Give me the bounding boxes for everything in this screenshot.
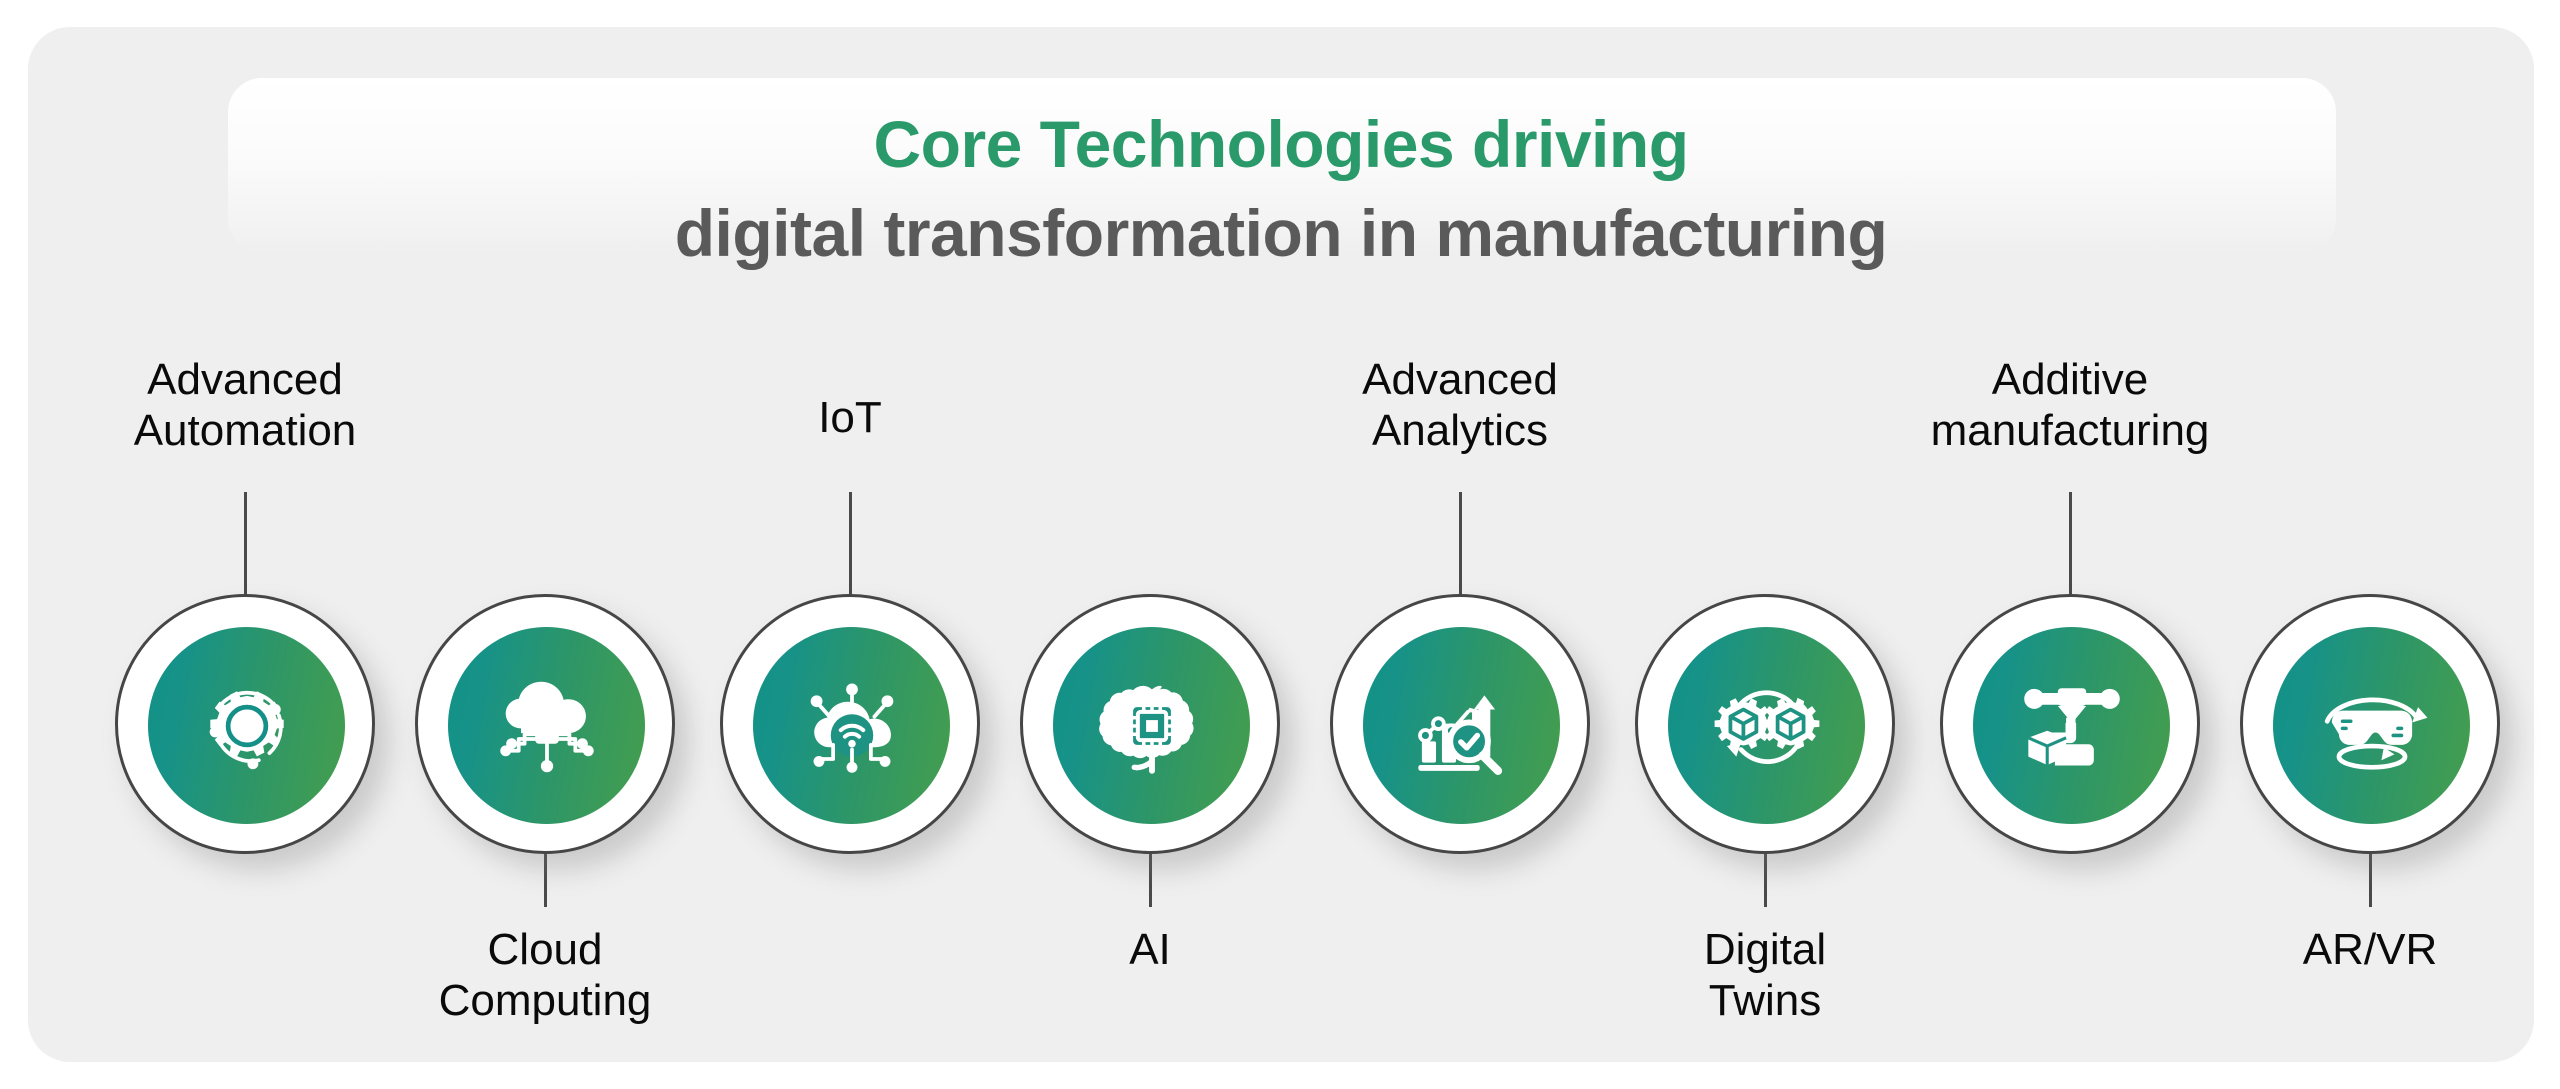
node-label-cloud-computing: Cloud Computing [285,925,805,1026]
node-circle-cloud-computing[interactable] [415,594,675,854]
twin-gears-sync-icon [1708,667,1826,785]
brain-chip-icon [1093,667,1211,785]
node-label-advanced-analytics: Advanced Analytics [1200,355,1720,456]
node-label-advanced-automation: Advanced Automation [0,355,505,456]
node-connector-cloud-computing [544,848,547,907]
node-connector-ai [1149,848,1152,907]
node-circle-additive-manufacturing[interactable] [1940,594,2200,854]
node-connector-ar-vr [2369,848,2372,907]
node-label-digital-twins: Digital Twins [1505,925,2025,1026]
gear-check-orbit-icon [188,667,306,785]
node-circle-advanced-automation[interactable] [115,594,375,854]
node-icon-disc-ar-vr [2273,627,2470,824]
node-connector-advanced-automation [244,492,247,600]
vr-goggles-orbit-icon [2313,667,2431,785]
node-circle-ai[interactable] [1020,594,1280,854]
node-circle-ar-vr[interactable] [2240,594,2500,854]
node-circle-digital-twins[interactable] [1635,594,1895,854]
node-connector-digital-twins [1764,848,1767,907]
node-circle-advanced-analytics[interactable] [1330,594,1590,854]
cloud-network-icon [488,667,606,785]
node-label-iot: IoT [590,393,1110,444]
node-connector-iot [849,492,852,600]
node-label-ai: AI [890,925,1410,976]
node-icon-disc-digital-twins [1668,627,1865,824]
node-icon-disc-additive-manufacturing [1973,627,2170,824]
node-connector-advanced-analytics [1459,492,1462,600]
node-icon-disc-ai [1053,627,1250,824]
node-connector-additive-manufacturing [2069,492,2072,600]
node-label-ar-vr: AR/VR [2110,925,2560,976]
node-icon-disc-advanced-analytics [1363,627,1560,824]
header-card [228,78,2336,253]
node-circle-iot[interactable] [720,594,980,854]
3d-printer-cube-icon [2013,667,2131,785]
cloud-wifi-nodes-icon [793,667,911,785]
node-label-additive-manufacturing: Additive manufacturing [1810,355,2330,456]
node-icon-disc-iot [753,627,950,824]
node-icon-disc-cloud-computing [448,627,645,824]
node-icon-disc-advanced-automation [148,627,345,824]
infographic-canvas: Core Technologies driving digital transf… [0,0,2560,1089]
bar-chart-magnifier-icon [1403,667,1521,785]
